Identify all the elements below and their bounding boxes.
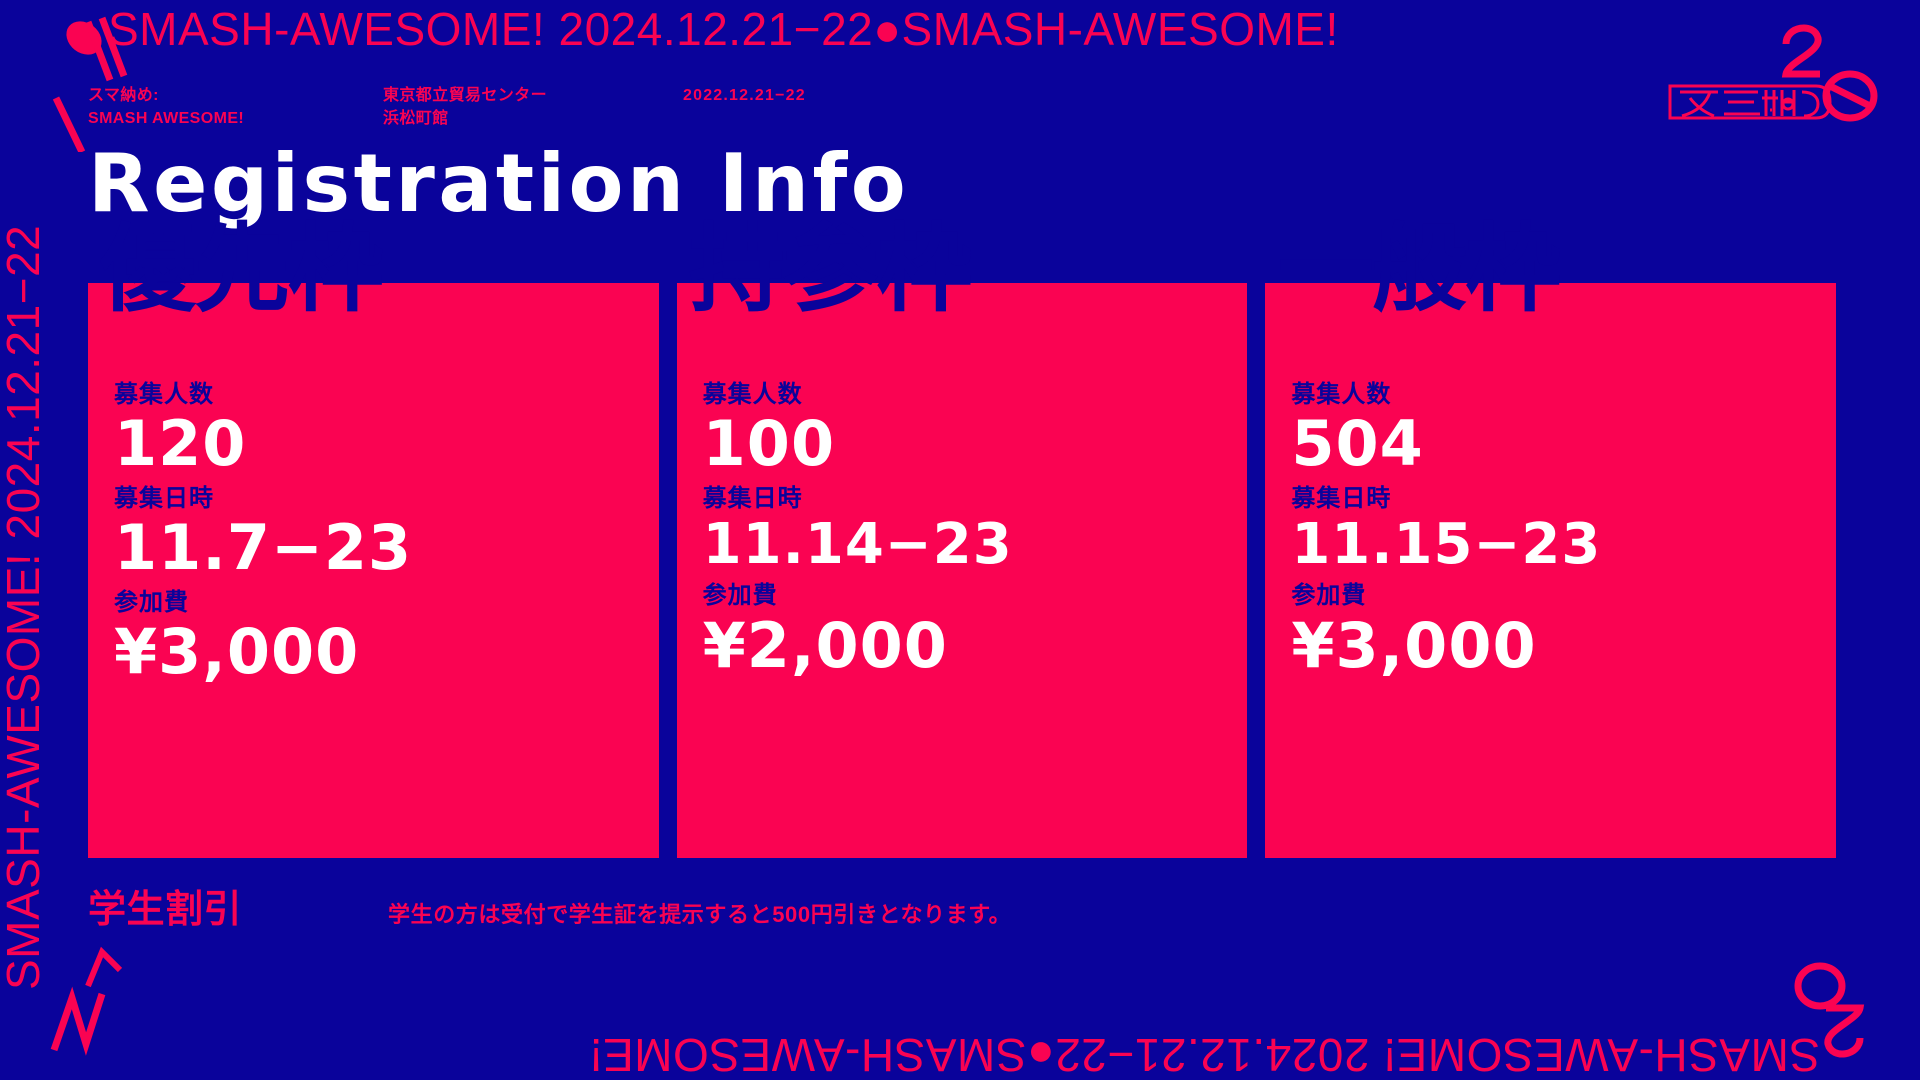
card-title: 優先枠 <box>100 221 382 317</box>
registration-card: 持参枠 募集人数 100 募集日時 11.14−23 参加費 ¥2,000 <box>677 283 1248 858</box>
card-field: 参加費 ¥3,000 <box>114 587 659 685</box>
field-value: ¥2,000 <box>703 613 1248 679</box>
registration-cards: 優先枠 募集人数 120 募集日時 11.7−23 参加費 ¥3,000 持参枠… <box>88 283 1836 858</box>
field-value: 11.15−23 <box>1291 515 1836 574</box>
card-title: 一般枠 <box>1277 221 1559 317</box>
field-value: 11.14−23 <box>703 515 1248 574</box>
event-dates: 2022.12.21−22 <box>683 84 983 107</box>
field-value: 100 <box>703 411 1248 477</box>
event-name: スマ納め: SMASH AWESOME! <box>88 84 383 130</box>
poster-stage: スマ納め: SMASH AWESOME! 東京都立貿易センター 浜松町館 202… <box>0 0 1920 1080</box>
field-label: 募集日時 <box>1291 483 1836 514</box>
field-label: 募集人数 <box>703 379 1248 410</box>
field-value: 11.7−23 <box>114 515 659 581</box>
field-value: ¥3,000 <box>114 619 659 685</box>
field-label: 募集日時 <box>703 483 1248 514</box>
field-label: 募集人数 <box>114 379 659 410</box>
card-field: 募集日時 11.7−23 <box>114 483 659 581</box>
field-value: 120 <box>114 411 659 477</box>
card-field: 募集人数 100 <box>703 379 1248 477</box>
field-label: 募集人数 <box>1291 379 1836 410</box>
header-meta-row: スマ納め: SMASH AWESOME! 東京都立貿易センター 浜松町館 202… <box>88 84 1588 130</box>
card-title: 持参枠 <box>689 221 971 317</box>
card-field: 募集人数 504 <box>1291 379 1836 477</box>
card-field: 募集人数 120 <box>114 379 659 477</box>
field-label: 募集日時 <box>114 483 659 514</box>
smash-awesome-logo-icon <box>1666 78 1834 126</box>
field-label: 参加費 <box>703 580 1248 611</box>
venue-name: 東京都立貿易センター 浜松町館 <box>383 84 683 130</box>
discount-note: 学生の方は受付で学生証を提示すると500円引きとなります。 <box>388 904 1011 926</box>
registration-card: 優先枠 募集人数 120 募集日時 11.7−23 参加費 ¥3,000 <box>88 283 659 858</box>
card-field: 募集日時 11.15−23 <box>1291 483 1836 575</box>
registration-card: 一般枠 募集人数 504 募集日時 11.15−23 参加費 ¥3,000 <box>1265 283 1836 858</box>
field-value: ¥3,000 <box>1291 613 1836 679</box>
page-title: Registration Info <box>88 144 909 224</box>
discount-title: 学生割引 <box>88 890 388 928</box>
field-label: 参加費 <box>114 587 659 618</box>
card-field: 参加費 ¥3,000 <box>1291 580 1836 678</box>
footer-discount: 学生割引 学生の方は受付で学生証を提示すると500円引きとなります。 <box>88 890 1788 928</box>
field-value: 504 <box>1291 411 1836 477</box>
card-field: 募集日時 11.14−23 <box>703 483 1248 575</box>
card-field: 参加費 ¥2,000 <box>703 580 1248 678</box>
field-label: 参加費 <box>1291 580 1836 611</box>
